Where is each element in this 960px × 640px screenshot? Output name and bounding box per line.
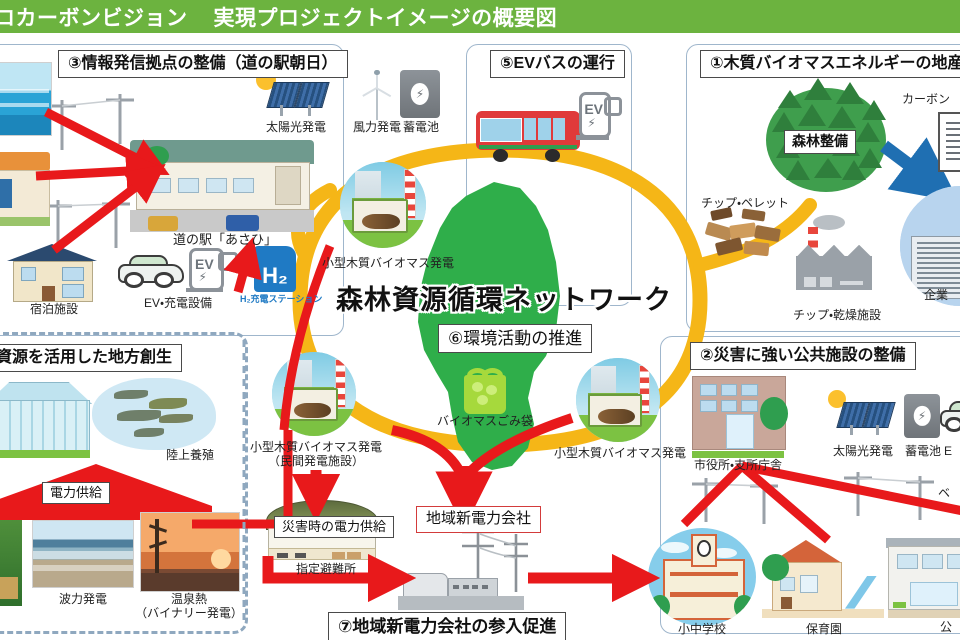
chip-drying-facility-illustration	[796, 232, 872, 290]
label-shelter: 指定避難所	[278, 562, 374, 577]
label-biomass-private-1: 小型木質バイオマス発電	[246, 440, 386, 455]
label-enterprise: 企業	[924, 288, 960, 303]
label-biomass-right: 小型木質バイオマス発電	[552, 446, 688, 461]
ev-charger-illustration: EV ⚡	[186, 248, 238, 292]
label-chip-dry-facility: チップ・乾燥施設	[784, 308, 890, 323]
label-carbon: カーボン	[902, 92, 960, 107]
label-h2-station: H₂充電ステーション	[240, 294, 312, 305]
biomass-plant-circle-right	[576, 358, 660, 442]
panel-ev-bus	[466, 44, 632, 306]
label-biomass-bag: バイオマスごみ袋	[420, 414, 550, 429]
wood-chips-illustration	[702, 208, 790, 266]
caption-public-facility: ②災害に強い公共施設の整備	[690, 342, 916, 370]
label-disaster-power-supply: 災害時の電力供給	[274, 516, 394, 538]
caption-info-base: ③情報発信拠点の整備（道の駅朝日）	[58, 50, 348, 78]
power-plant-illustration	[398, 548, 524, 610]
label-kindergarten: 保育園	[782, 622, 866, 637]
label-right-facility: 公	[940, 620, 960, 635]
school-illustration	[648, 528, 756, 626]
label-aquaculture: 陸上養殖	[150, 448, 230, 463]
label-chip-pellet: チップ・ペレット	[690, 196, 800, 211]
page-title-right: 実現プロジェクトイメージの概要図	[214, 2, 558, 32]
label-biomass-private-2: （民間発電施設）	[246, 454, 386, 469]
page-title-left: ロカーボンビジョン	[0, 2, 188, 32]
label-lodging: 宿泊施設	[8, 302, 100, 317]
label-power-supply: 電力供給	[42, 482, 110, 504]
label-roadside-station: 道の駅「あさひ」	[140, 232, 310, 248]
ev-bus-charger-illustration: EV ⚡	[576, 92, 622, 140]
label-facility2: 設	[0, 228, 22, 243]
label-school: 小中学校	[654, 622, 750, 637]
forest-photo-left	[0, 520, 22, 606]
label-solar-2: 太陽光発電	[826, 444, 900, 459]
carbon-credit-document-icon	[938, 112, 960, 172]
lodging-house-illustration	[6, 244, 98, 302]
ev-car-illustration	[118, 256, 180, 290]
solar-panel-icon-3	[262, 74, 328, 118]
label-pool-facility: 施設	[0, 136, 34, 151]
public-facility-illustration-right	[888, 538, 960, 618]
roadside-station-illustration	[130, 140, 314, 232]
label-battery-3: 蓄電池	[392, 120, 450, 135]
label-wave-power: 波力発電	[36, 592, 130, 607]
pool-facility-photo	[0, 62, 52, 136]
battery-icon-2: ⚡	[904, 394, 940, 438]
label-right-other: ベ	[938, 486, 960, 501]
caption-regional-revitalization: ネ資源を活用した地方創生	[0, 344, 182, 372]
biomass-plant-circle-top	[340, 162, 426, 248]
roadside-shop-illustration	[0, 152, 50, 226]
page-title-bar: ロカーボンビジョン 実現プロジェクトイメージの概要図	[0, 0, 960, 33]
red-merge-left	[392, 430, 462, 476]
biomass-plant-circle-private	[272, 352, 356, 436]
label-new-power-company: 地域新電力会社	[416, 506, 541, 533]
label-ev-charge: EV・充電設備	[116, 296, 240, 311]
ev-car-illustration-2	[940, 402, 960, 434]
onsen-heat-photo	[140, 512, 240, 592]
caption-new-power-company: ⑦地域新電力会社の参入促進	[328, 612, 566, 640]
label-ev-2: E	[944, 444, 960, 459]
aquaculture-pond-illustration	[92, 378, 216, 450]
label-solar-3: 太陽光発電	[258, 120, 334, 135]
center-network-title: 森林資源循環ネットワーク	[336, 278, 672, 317]
battery-icon-3: ⚡	[400, 70, 440, 118]
solar-panel-icon-2	[832, 392, 894, 438]
greenhouse-illustration	[0, 382, 90, 458]
kindergarten-illustration	[762, 540, 884, 618]
label-onsen-heat-1: 温泉熱	[140, 592, 238, 607]
infographic-canvas: ロカーボンビジョン 実現プロジェクトイメージの概要図 ③情報発信拠点の整備（道の…	[0, 0, 960, 640]
caption-biomass-local: ①木質バイオマスエネルギーの地産地消	[700, 50, 960, 78]
label-onsen-heat-2: （バイナリー発電）	[134, 606, 244, 621]
label-battery-2: 蓄電池	[896, 444, 950, 459]
ev-bus-illustration	[476, 108, 580, 162]
caption-ev-bus: ⑤EVバスの運行	[490, 50, 625, 78]
wind-turbine-icon	[356, 58, 398, 120]
label-city-hall: 市役所・支所庁舎	[680, 458, 796, 473]
caption-environment-activity: ⑥環境活動の推進	[438, 324, 592, 353]
wave-power-photo	[32, 520, 134, 588]
city-hall-illustration	[692, 376, 784, 458]
biomass-garbage-bag-illustration	[464, 368, 506, 414]
label-biomass-top: 小型木質バイオマス発電	[322, 256, 448, 271]
h2-station-illustration: H₂	[254, 246, 296, 292]
label-forest-maintenance: 森林整備	[784, 130, 856, 154]
